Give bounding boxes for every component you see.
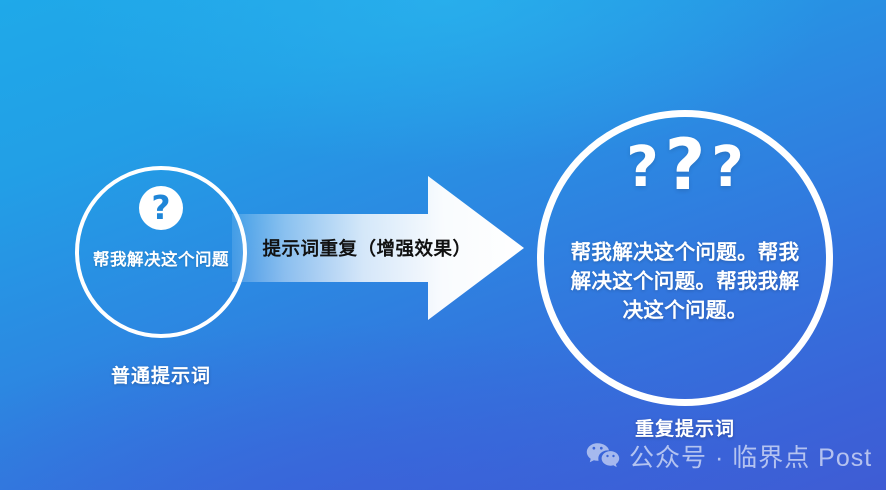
- transform-arrow: 提示词重复（增强效果）: [232, 176, 524, 320]
- repeated-prompt-caption: 重复提示词: [590, 414, 780, 441]
- question-mark-icon: ?: [139, 186, 183, 230]
- repeated-prompt-group: ? ? ? 帮我解决这个问题。帮我解决这个问题。帮我我解决这个问题。: [537, 110, 833, 406]
- question-mark-icon-3: ?: [711, 141, 743, 194]
- ordinary-prompt-group: ? 帮我解决这个问题: [75, 166, 247, 338]
- infographic-canvas: ? 帮我解决这个问题 普通提示词 提示词重复（增强效果） ? ?: [0, 0, 886, 490]
- triple-question-mark-icon: ? ? ?: [537, 132, 833, 195]
- question-mark-icon-2: ?: [665, 132, 706, 199]
- watermark-text: 公众号 · 临界点 Post: [629, 438, 872, 474]
- wechat-icon: [586, 442, 620, 470]
- question-mark-glyph: ?: [151, 191, 170, 224]
- ordinary-prompt-caption: 普通提示词: [75, 361, 247, 388]
- transform-arrow-label: 提示词重复（增强效果）: [232, 176, 484, 320]
- watermark: 公众号 · 临界点 Post: [586, 438, 872, 474]
- repeated-prompt-text: 帮我解决这个问题。帮我解决这个问题。帮我我解决这个问题。: [565, 238, 805, 325]
- question-mark-icon-1: ?: [626, 141, 658, 194]
- ordinary-prompt-text: 帮我解决这个问题: [83, 246, 239, 270]
